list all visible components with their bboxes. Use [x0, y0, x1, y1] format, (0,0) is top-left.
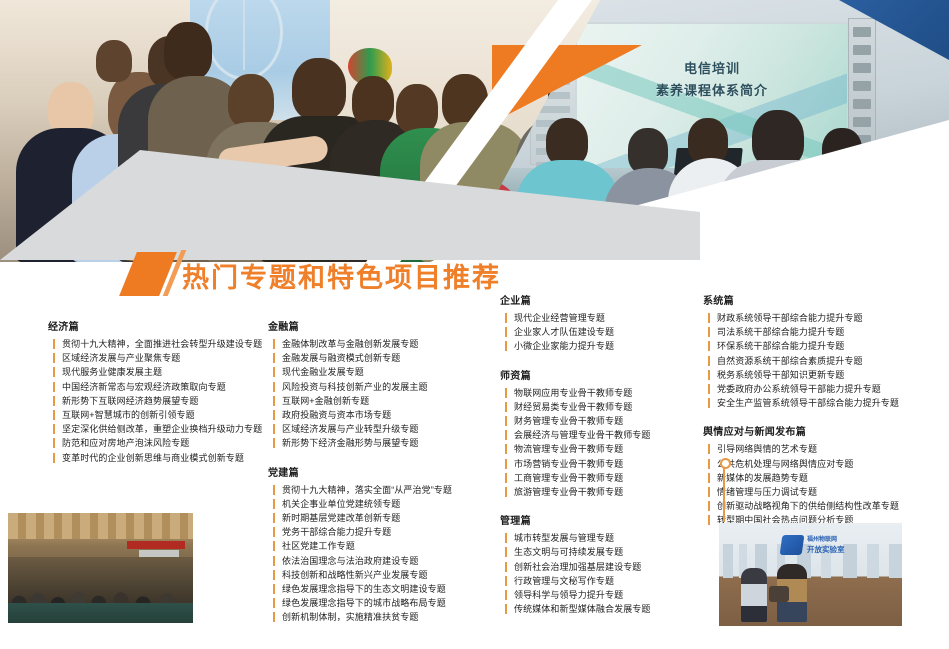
topic-item[interactable]: 区域经济发展与产业转型升级专题	[282, 422, 500, 436]
topic-list: 贯彻十九大精神，全面推进社会转型升级建设专题 区域经济发展与产业聚焦专题 现代服…	[48, 337, 273, 465]
lab-logo-line-2: 开放实验室	[807, 545, 845, 554]
topic-item[interactable]: 金融体制改革与金融创新发展专题	[282, 337, 500, 351]
topic-item[interactable]: 税务系统领导干部知识更新专题	[717, 368, 945, 382]
column-economics: 经济篇 贯彻十九大精神，全面推进社会转型升级建设专题 区域经济发展与产业聚焦专题…	[48, 318, 273, 478]
topic-item[interactable]: 科技创新和战略性新兴产业发展专题	[282, 568, 500, 582]
topic-item[interactable]: 企业家人才队伍建设专题	[514, 325, 708, 339]
topic-item[interactable]: 工商管理专业骨干教师专题	[514, 471, 708, 485]
topic-item[interactable]: 生态文明与可持续发展专题	[514, 545, 708, 559]
photo-iot-lab-visit: 福州物联网 开放实验室	[719, 523, 902, 626]
topic-item[interactable]: 中国经济新常态与宏观经济政策取向专题	[62, 380, 273, 394]
photo-conference-hall	[8, 513, 193, 623]
visitor-guide	[741, 568, 767, 622]
topic-item[interactable]: 创新机制体制，实施精准扶贫专题	[282, 610, 500, 624]
topic-item[interactable]: 物联网应用专业骨干教师专题	[514, 386, 708, 400]
topic-item[interactable]: 区域经济发展与产业聚焦专题	[62, 351, 273, 365]
topic-item[interactable]: 城市转型发展与管理专题	[514, 531, 708, 545]
topic-item[interactable]: 引导网络舆情的艺术专题	[717, 442, 945, 456]
topic-item[interactable]: 党务干部综合能力提升专题	[282, 525, 500, 539]
column-finance-party: 金融篇 金融体制改革与金融创新发展专题 金融发展与融资模式创新专题 现代金融业发…	[268, 318, 500, 638]
connector-dot	[720, 458, 731, 469]
topic-item[interactable]: 依法治国理念与法治政府建设专题	[282, 554, 500, 568]
topic-item[interactable]: 风险投资与科技创新产业的发展主题	[282, 380, 500, 394]
topic-list: 财政系统领导干部综合能力提升专题 司法系统干部综合能力提升专题 环保系统干部综合…	[703, 311, 945, 410]
topic-list: 现代企业经营管理专题 企业家人才队伍建设专题 小微企业家能力提升专题	[500, 311, 708, 354]
column-systems-publicopinion: 系统篇 财政系统领导干部综合能力提升专题 司法系统干部综合能力提升专题 环保系统…	[703, 292, 945, 541]
section-title: 经济篇	[48, 318, 273, 333]
topic-item[interactable]: 财经贸易类专业骨干教师专题	[514, 400, 708, 414]
handbag	[769, 586, 789, 602]
section-faculty: 师资篇 物联网应用专业骨干教师专题 财经贸易类专业骨干教师专题 财务管理专业骨干…	[500, 367, 708, 500]
topic-item[interactable]: 环保系统干部综合能力提升专题	[717, 339, 945, 353]
topic-item[interactable]: 现代服务业健康发展主题	[62, 365, 273, 379]
connector-line	[723, 460, 725, 522]
person-head	[96, 40, 132, 82]
section-party-building: 党建篇 贯彻十九大精神，落实全面“从严治党”专题 机关企事业单位党建统领专题 新…	[268, 464, 500, 625]
topic-item[interactable]: 传统媒体和新型媒体融合发展专题	[514, 602, 708, 616]
topic-item[interactable]: 新媒体的发展趋势专题	[717, 471, 945, 485]
topic-item[interactable]: 领导科学与领导力提升专题	[514, 588, 708, 602]
topic-item[interactable]: 变革时代的企业创新思维与商业模式创新专题	[62, 451, 273, 465]
topic-item[interactable]: 机关企事业单位党建统领专题	[282, 497, 500, 511]
person-head	[292, 58, 346, 120]
section-title: 管理篇	[500, 512, 708, 527]
topic-item[interactable]: 绿色发展理念指导下的城市战略布局专题	[282, 596, 500, 610]
topic-list: 物联网应用专业骨干教师专题 财经贸易类专业骨干教师专题 财务管理专业骨干教师专题…	[500, 386, 708, 500]
person-head	[396, 84, 438, 134]
topic-item[interactable]: 财务管理专业骨干教师专题	[514, 414, 708, 428]
section-enterprise: 企业篇 现代企业经营管理专题 企业家人才队伍建设专题 小微企业家能力提升专题	[500, 292, 708, 354]
topic-item[interactable]: 创新驱动战略视角下的供给侧结构性改革专题	[717, 499, 945, 513]
lab-logo: 福州物联网 开放实验室	[781, 535, 839, 557]
section-finance: 金融篇 金融体制改革与金融创新发展专题 金融发展与融资模式创新专题 现代金融业发…	[268, 318, 500, 451]
front-table	[8, 603, 193, 623]
lab-logo-line-1: 福州物联网	[807, 536, 845, 545]
topic-item[interactable]: 市场营销专业骨干教师专题	[514, 457, 708, 471]
topic-item[interactable]: 司法系统干部综合能力提升专题	[717, 325, 945, 339]
section-title: 师资篇	[500, 367, 708, 382]
person-head	[352, 76, 394, 126]
topic-item[interactable]: 物流管理专业骨干教师专题	[514, 442, 708, 456]
section-management: 管理篇 城市转型发展与管理专题 生态文明与可持续发展专题 创新社会治理加强基层建…	[500, 512, 708, 616]
ceiling	[8, 513, 193, 539]
topic-list: 引导网络舆情的艺术专题 公共危机处理与网络舆情应对专题 新媒体的发展趋势专题 情…	[703, 442, 945, 527]
person-head	[546, 118, 588, 166]
topic-item[interactable]: 新形势下互联网经济趋势展望专题	[62, 394, 273, 408]
lab-logo-mark-icon	[780, 535, 805, 555]
topic-item[interactable]: 新时期基层党建改革创新专题	[282, 511, 500, 525]
topic-item[interactable]: 贯彻十九大精神，落实全面“从严治党”专题	[282, 483, 500, 497]
section-title: 金融篇	[268, 318, 500, 333]
topic-item[interactable]: 互联网+智慧城市的创新引领专题	[62, 408, 273, 422]
topic-item[interactable]: 行政管理与文秘写作专题	[514, 574, 708, 588]
section-title: 系统篇	[703, 292, 945, 307]
topic-item[interactable]: 社区党建工作专题	[282, 539, 500, 553]
section-systems: 系统篇 财政系统领导干部综合能力提升专题 司法系统干部综合能力提升专题 环保系统…	[703, 292, 945, 410]
topic-item[interactable]: 会展经济与管理专业骨干教师专题	[514, 428, 708, 442]
topic-item[interactable]: 政府投融资与资本市场专题	[282, 408, 500, 422]
topic-list: 城市转型发展与管理专题 生态文明与可持续发展专题 创新社会治理加强基层建设专题 …	[500, 531, 708, 616]
topic-item[interactable]: 金融发展与融资模式创新专题	[282, 351, 500, 365]
section-title: 企业篇	[500, 292, 708, 307]
topic-item[interactable]: 现代金融业发展专题	[282, 365, 500, 379]
topic-item[interactable]: 党委政府办公系统领导干部能力提升专题	[717, 382, 945, 396]
section-title: 党建篇	[268, 464, 500, 479]
topic-item[interactable]: 防范和应对房地产泡沫风险专题	[62, 436, 273, 450]
topic-item[interactable]: 新形势下经济金融形势与展望专题	[282, 436, 500, 450]
person-head	[228, 74, 274, 128]
topic-item[interactable]: 公共危机处理与网络舆情应对专题	[717, 457, 945, 471]
topic-item[interactable]: 坚定深化供给侧改革，重塑企业换档升级动力专题	[62, 422, 273, 436]
topic-item[interactable]: 安全生产监管系统领导干部综合能力提升专题	[717, 396, 945, 410]
person-head	[164, 22, 212, 80]
topic-item[interactable]: 自然资源系统干部综合素质提升专题	[717, 354, 945, 368]
topic-list: 金融体制改革与金融创新发展专题 金融发展与融资模式创新专题 现代金融业发展专题 …	[268, 337, 500, 451]
topic-item[interactable]: 情绪管理与压力调试专题	[717, 485, 945, 499]
topic-item[interactable]: 创新社会治理加强基层建设专题	[514, 560, 708, 574]
topic-item[interactable]: 绿色发展理念指导下的生态文明建设专题	[282, 582, 500, 596]
section-economics: 经济篇 贯彻十九大精神，全面推进社会转型升级建设专题 区域经济发展与产业聚焦专题…	[48, 318, 273, 465]
topic-item[interactable]: 现代企业经营管理专题	[514, 311, 708, 325]
section-title: 舆情应对与新闻发布篇	[703, 423, 945, 438]
topic-item[interactable]: 财政系统领导干部综合能力提升专题	[717, 311, 945, 325]
topic-list: 贯彻十九大精神，落实全面“从严治党”专题 机关企事业单位党建统领专题 新时期基层…	[268, 483, 500, 625]
topic-item[interactable]: 旅游管理专业骨干教师专题	[514, 485, 708, 499]
page-title: 热门专题和特色项目推荐	[182, 256, 501, 295]
topic-item[interactable]: 互联网+金融创新专题	[282, 394, 500, 408]
stage-banner	[127, 541, 185, 549]
lab-logo-text: 福州物联网 开放实验室	[807, 536, 845, 554]
section-public-opinion: 舆情应对与新闻发布篇 引导网络舆情的艺术专题 公共危机处理与网络舆情应对专题 新…	[703, 423, 945, 527]
topic-item[interactable]: 贯彻十九大精神，全面推进社会转型升级建设专题	[62, 337, 273, 351]
topic-item[interactable]: 小微企业家能力提升专题	[514, 339, 708, 353]
column-enterprise-faculty-management: 企业篇 现代企业经营管理专题 企业家人才队伍建设专题 小微企业家能力提升专题 师…	[500, 292, 708, 629]
